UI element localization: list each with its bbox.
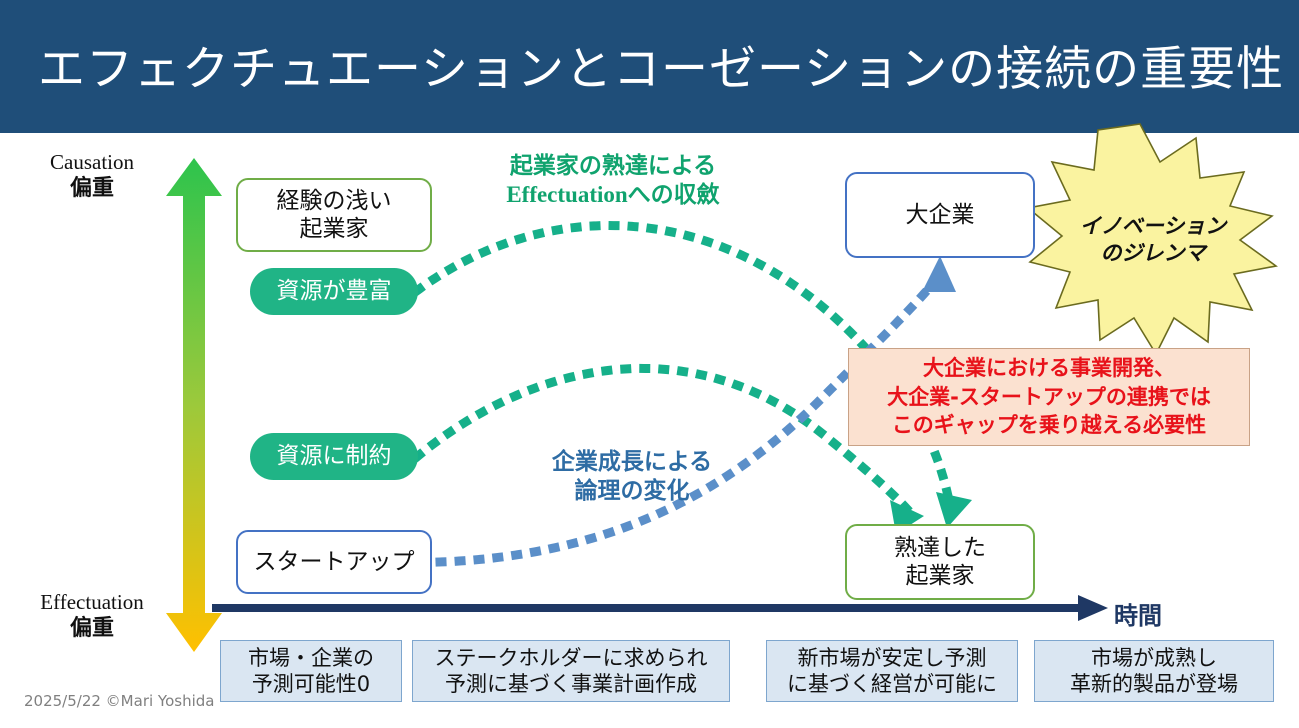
node-expert-entrepreneur[interactable]: 熟達した 起業家 xyxy=(845,524,1035,600)
timeline-phase-3: 新市場が安定し予測 に基づく経営が可能に xyxy=(766,640,1018,702)
node-large-company[interactable]: 大企業 xyxy=(845,172,1035,258)
time-axis-label: 時間 xyxy=(1114,596,1162,631)
starburst-label-wrap: イノベーション のジレンマ xyxy=(1028,124,1278,356)
axis-label-causation: Causation 偏重 xyxy=(12,150,172,202)
axis-label-effectuation-en: Effectuation xyxy=(6,590,178,616)
footer-credit: 2025/5/22 ©Mari Yoshida xyxy=(24,692,214,710)
node-novice-entrepreneur[interactable]: 経験の浅い 起業家 xyxy=(236,178,432,252)
starburst-label: イノベーション のジレンマ xyxy=(1028,124,1278,356)
caption-logic-shift: 企業成長による 論理の変化 xyxy=(498,448,766,506)
axis-label-effectuation-jp: 偏重 xyxy=(6,616,178,643)
slide-title: エフェクチュエーションとコーゼーションの接続の重要性 xyxy=(38,30,1284,99)
node-constrained-resources[interactable]: 資源に制約 xyxy=(250,433,418,480)
timeline-phase-4: 市場が成熟し 革新的製品が登場 xyxy=(1034,640,1274,702)
slide-canvas: エフェクチュエーションとコーゼーションの接続の重要性 xyxy=(0,0,1299,728)
axis-label-causation-jp: 偏重 xyxy=(12,176,172,203)
timeline-phase-2: ステークホルダーに求められ 予測に基づく事業計画作成 xyxy=(412,640,730,702)
node-abundant-resources[interactable]: 資源が豊富 xyxy=(250,268,418,315)
axis-label-causation-en: Causation xyxy=(12,150,172,176)
caption-effectuation-convergence: 起業家の熟達による Effectuationへの収斂 xyxy=(468,152,758,210)
causation-effectuation-axis-arrow xyxy=(166,158,222,652)
timeline-phase-1: 市場・企業の 予測可能性0 xyxy=(220,640,402,702)
slide-header-bar: エフェクチュエーションとコーゼーションの接続の重要性 xyxy=(0,0,1299,133)
gap-callout: 大企業における事業開発、 大企業-スタートアップの連携では このギャップを乗り越… xyxy=(848,348,1250,446)
axis-label-effectuation: Effectuation 偏重 xyxy=(6,590,178,642)
node-startup[interactable]: スタートアップ xyxy=(236,530,432,594)
